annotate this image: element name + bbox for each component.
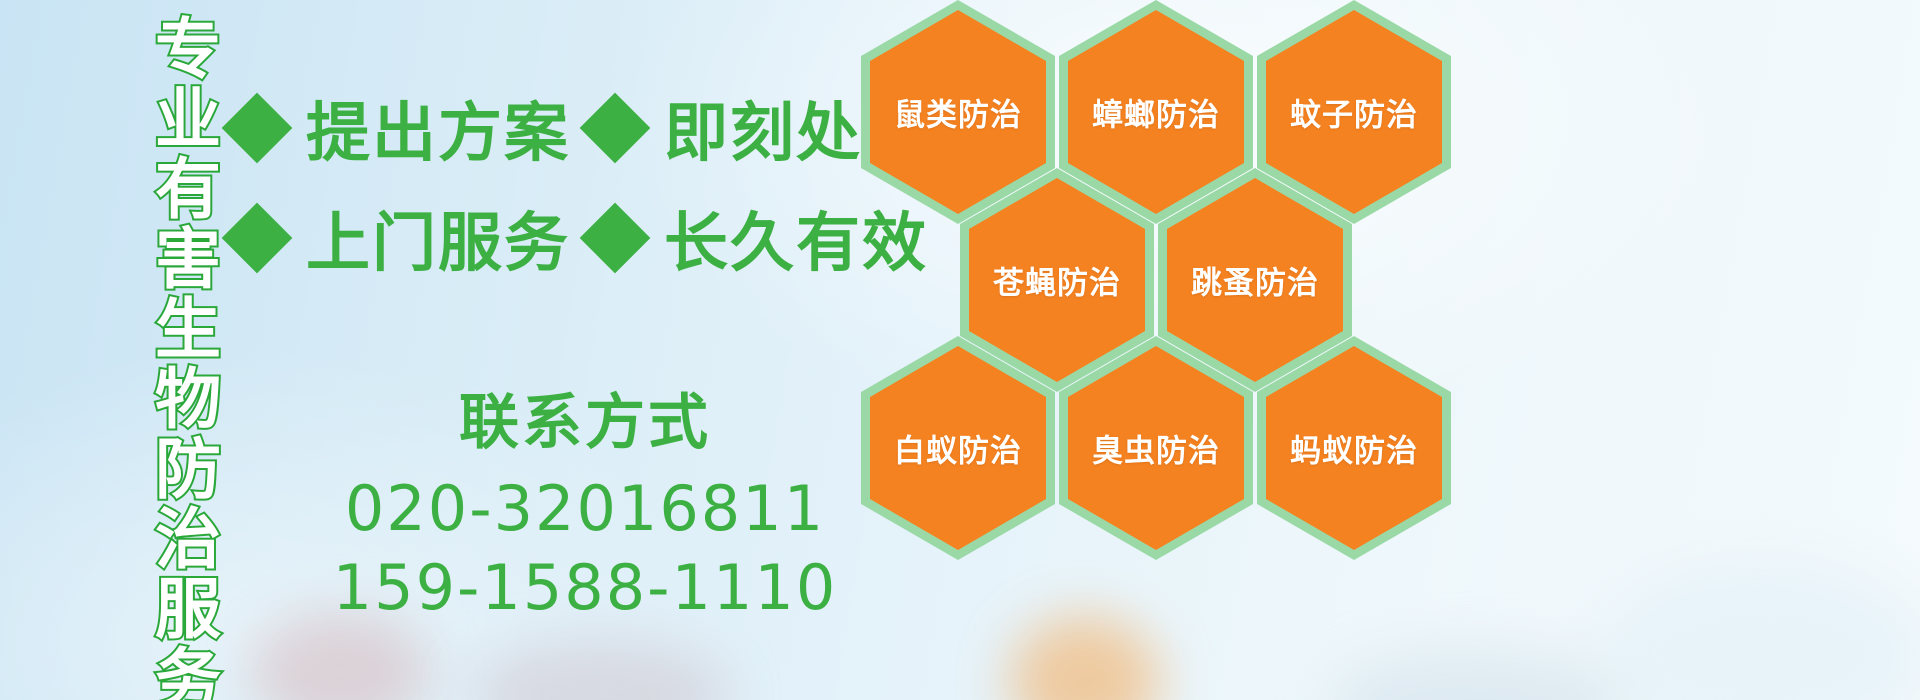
feature-label-onsite: 上门服务 bbox=[306, 192, 570, 284]
banner-stage: 专业有害生物防治服务 提出方案 即刻处理 上门服务 长久有效 联系方式 020-… bbox=[0, 0, 1920, 700]
vertical-slogan: 专业有害生物防治服务 bbox=[104, 14, 216, 700]
service-hex-bedbug[interactable]: 臭虫防治 bbox=[1059, 336, 1253, 560]
background-blob bbox=[470, 640, 730, 700]
feature-label-proposal: 提出方案 bbox=[306, 82, 570, 174]
feature-row-2: 上门服务 长久有效 bbox=[232, 192, 928, 284]
service-label: 蟑螂防治 bbox=[1059, 90, 1253, 135]
service-label: 白蚁防治 bbox=[861, 426, 1055, 471]
phone-number-mobile[interactable]: 159-1588-1110 bbox=[300, 548, 870, 627]
phone-number-landline[interactable]: 020-32016811 bbox=[300, 469, 870, 548]
service-label: 苍蝇防治 bbox=[960, 258, 1154, 303]
diamond-icon bbox=[222, 203, 293, 274]
service-label: 蚂蚁防治 bbox=[1257, 426, 1451, 471]
contact-block: 联系方式 020-32016811 159-1588-1110 bbox=[300, 392, 870, 628]
feature-row-1: 提出方案 即刻处理 bbox=[232, 82, 928, 174]
diamond-icon bbox=[580, 93, 651, 164]
diamond-icon bbox=[222, 93, 293, 164]
service-label: 鼠类防治 bbox=[861, 90, 1055, 135]
service-hex-termite[interactable]: 白蚁防治 bbox=[861, 336, 1055, 560]
background-blob bbox=[1600, 560, 1920, 700]
contact-title: 联系方式 bbox=[300, 392, 870, 455]
service-hex-ant[interactable]: 蚂蚁防治 bbox=[1257, 336, 1451, 560]
background-blob bbox=[1010, 616, 1160, 700]
service-label: 臭虫防治 bbox=[1059, 426, 1253, 471]
service-label: 蚊子防治 bbox=[1257, 90, 1451, 135]
diamond-icon bbox=[580, 203, 651, 274]
background-blob bbox=[1330, 650, 1630, 700]
service-honeycomb: 鼠类防治 蟑螂防治 蚊子防治 苍蝇防治 跳蚤防治 白蚁防治 bbox=[855, 0, 1495, 546]
service-label: 跳蚤防治 bbox=[1158, 258, 1352, 303]
